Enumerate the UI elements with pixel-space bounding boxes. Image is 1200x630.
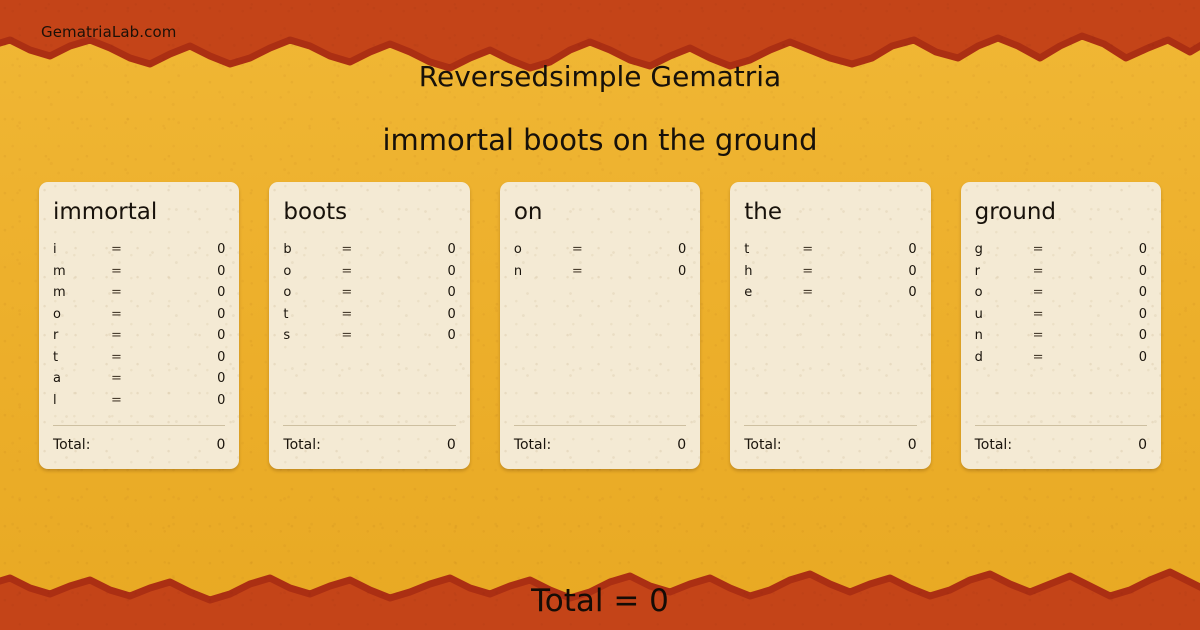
letter-value-row: o=0 — [283, 285, 455, 307]
card-inner: thet=0h=0e=0Total:0 — [730, 182, 930, 469]
letter-label: t — [283, 307, 341, 322]
letter-label: t — [53, 350, 111, 365]
letter-label: a — [53, 371, 111, 386]
letter-label: l — [53, 393, 111, 408]
letter-value: 0 — [1044, 264, 1148, 279]
card-inner: bootsb=0o=0o=0t=0s=0Total:0 — [269, 182, 469, 469]
card-inner: immortali=0m=0m=0o=0r=0t=0a=0l=0Total:0 — [39, 182, 239, 469]
word-card: ono=0n=0Total:0 — [500, 182, 700, 469]
letter-value-row: r=0 — [53, 328, 225, 350]
letter-label: r — [975, 264, 1033, 279]
letter-value-row: b=0 — [283, 242, 455, 264]
letter-value: 0 — [122, 371, 226, 386]
equals-sign: = — [341, 285, 352, 300]
letter-value: 0 — [352, 328, 456, 343]
equals-sign: = — [1033, 328, 1044, 343]
card-word-title: ground — [975, 199, 1056, 225]
letter-value: 0 — [122, 328, 226, 343]
letter-value-row: i=0 — [53, 242, 225, 264]
letter-value-row: o=0 — [514, 242, 686, 264]
card-total-label: Total: — [744, 437, 781, 453]
letter-value-row: e=0 — [744, 285, 916, 307]
letter-value: 0 — [122, 242, 226, 257]
card-divider — [744, 425, 916, 426]
letter-label: i — [53, 242, 111, 257]
card-word-title: immortal — [53, 199, 157, 225]
word-card: thet=0h=0e=0Total:0 — [730, 182, 930, 469]
card-total-value: 0 — [90, 437, 225, 453]
letter-value: 0 — [1044, 328, 1148, 343]
equals-sign: = — [802, 242, 813, 257]
card-word-title: on — [514, 199, 543, 225]
letter-value: 0 — [352, 285, 456, 300]
card-total-row: Total:0 — [975, 437, 1147, 453]
letter-value-list: o=0n=0 — [514, 242, 686, 285]
equals-sign: = — [572, 242, 583, 257]
letter-value: 0 — [122, 307, 226, 322]
card-total-label: Total: — [283, 437, 320, 453]
letter-label: t — [744, 242, 802, 257]
equals-sign: = — [111, 264, 122, 279]
phrase-subtitle: immortal boots on the ground — [0, 123, 1200, 157]
letter-value-row: o=0 — [283, 264, 455, 286]
equals-sign: = — [572, 264, 583, 279]
card-inner: ono=0n=0Total:0 — [500, 182, 700, 469]
equals-sign: = — [111, 307, 122, 322]
letter-label: o — [53, 307, 111, 322]
word-cards-container: immortali=0m=0m=0o=0r=0t=0a=0l=0Total:0b… — [39, 182, 1161, 469]
card-total-row: Total:0 — [514, 437, 686, 453]
letter-value: 0 — [122, 285, 226, 300]
equals-sign: = — [341, 242, 352, 257]
letter-value: 0 — [1044, 350, 1148, 365]
letter-value: 0 — [583, 242, 687, 257]
letter-value: 0 — [813, 285, 917, 300]
equals-sign: = — [802, 264, 813, 279]
letter-value-row: n=0 — [975, 328, 1147, 350]
card-total-label: Total: — [514, 437, 551, 453]
letter-value: 0 — [583, 264, 687, 279]
card-divider — [514, 425, 686, 426]
letter-value-row: l=0 — [53, 393, 225, 415]
letter-label: n — [975, 328, 1033, 343]
equals-sign: = — [111, 285, 122, 300]
letter-value: 0 — [122, 350, 226, 365]
letter-value: 0 — [813, 264, 917, 279]
card-total-value: 0 — [321, 437, 456, 453]
letter-value-row: d=0 — [975, 350, 1147, 372]
letter-value-row: g=0 — [975, 242, 1147, 264]
card-divider — [53, 425, 225, 426]
letter-value: 0 — [122, 264, 226, 279]
site-watermark: GematriaLab.com — [41, 23, 176, 41]
letter-label: h — [744, 264, 802, 279]
card-total-row: Total:0 — [744, 437, 916, 453]
letter-value-row: t=0 — [53, 350, 225, 372]
page-title: Reversedsimple Gematria — [0, 60, 1200, 93]
equals-sign: = — [1033, 242, 1044, 257]
equals-sign: = — [341, 328, 352, 343]
letter-label: o — [514, 242, 572, 257]
letter-label: g — [975, 242, 1033, 257]
letter-value-row: u=0 — [975, 307, 1147, 329]
equals-sign: = — [341, 307, 352, 322]
letter-value-row: o=0 — [53, 307, 225, 329]
letter-value-row: r=0 — [975, 264, 1147, 286]
letter-value-list: i=0m=0m=0o=0r=0t=0a=0l=0 — [53, 242, 225, 414]
equals-sign: = — [111, 350, 122, 365]
letter-value-row: n=0 — [514, 264, 686, 286]
card-inner: groundg=0r=0o=0u=0n=0d=0Total:0 — [961, 182, 1161, 469]
letter-label: s — [283, 328, 341, 343]
card-total-label: Total: — [53, 437, 90, 453]
letter-value-list: g=0r=0o=0u=0n=0d=0 — [975, 242, 1147, 371]
letter-value-row: t=0 — [283, 307, 455, 329]
equals-sign: = — [111, 393, 122, 408]
letter-value-row: t=0 — [744, 242, 916, 264]
card-word-title: the — [744, 199, 782, 225]
letter-value-row: s=0 — [283, 328, 455, 350]
letter-value: 0 — [1044, 307, 1148, 322]
card-total-value: 0 — [551, 437, 686, 453]
letter-label: m — [53, 285, 111, 300]
equals-sign: = — [1033, 285, 1044, 300]
equals-sign: = — [802, 285, 813, 300]
letter-label: r — [53, 328, 111, 343]
letter-value-row: a=0 — [53, 371, 225, 393]
letter-value: 0 — [352, 242, 456, 257]
letter-label: o — [283, 264, 341, 279]
card-total-label: Total: — [975, 437, 1012, 453]
equals-sign: = — [111, 371, 122, 386]
letter-label: o — [975, 285, 1033, 300]
word-card: immortali=0m=0m=0o=0r=0t=0a=0l=0Total:0 — [39, 182, 239, 469]
card-divider — [283, 425, 455, 426]
equals-sign: = — [1033, 350, 1044, 365]
letter-label: e — [744, 285, 802, 300]
letter-value: 0 — [352, 264, 456, 279]
letter-value-row: h=0 — [744, 264, 916, 286]
card-total-row: Total:0 — [283, 437, 455, 453]
word-card: groundg=0r=0o=0u=0n=0d=0Total:0 — [961, 182, 1161, 469]
letter-label: n — [514, 264, 572, 279]
equals-sign: = — [111, 328, 122, 343]
letter-label: o — [283, 285, 341, 300]
letter-value-row: m=0 — [53, 264, 225, 286]
letter-value-row: m=0 — [53, 285, 225, 307]
letter-value: 0 — [813, 242, 917, 257]
letter-label: m — [53, 264, 111, 279]
card-total-row: Total:0 — [53, 437, 225, 453]
word-card: bootsb=0o=0o=0t=0s=0Total:0 — [269, 182, 469, 469]
letter-value-row: o=0 — [975, 285, 1147, 307]
card-divider — [975, 425, 1147, 426]
letter-value-list: b=0o=0o=0t=0s=0 — [283, 242, 455, 350]
letter-label: b — [283, 242, 341, 257]
letter-value: 0 — [352, 307, 456, 322]
card-total-value: 0 — [1012, 437, 1147, 453]
grand-total: Total = 0 — [0, 583, 1200, 619]
letter-value: 0 — [1044, 242, 1148, 257]
letter-value-list: t=0h=0e=0 — [744, 242, 916, 307]
card-total-value: 0 — [782, 437, 917, 453]
card-word-title: boots — [283, 199, 347, 225]
letter-label: d — [975, 350, 1033, 365]
letter-label: u — [975, 307, 1033, 322]
equals-sign: = — [341, 264, 352, 279]
equals-sign: = — [1033, 264, 1044, 279]
equals-sign: = — [111, 242, 122, 257]
letter-value: 0 — [1044, 285, 1148, 300]
letter-value: 0 — [122, 393, 226, 408]
equals-sign: = — [1033, 307, 1044, 322]
